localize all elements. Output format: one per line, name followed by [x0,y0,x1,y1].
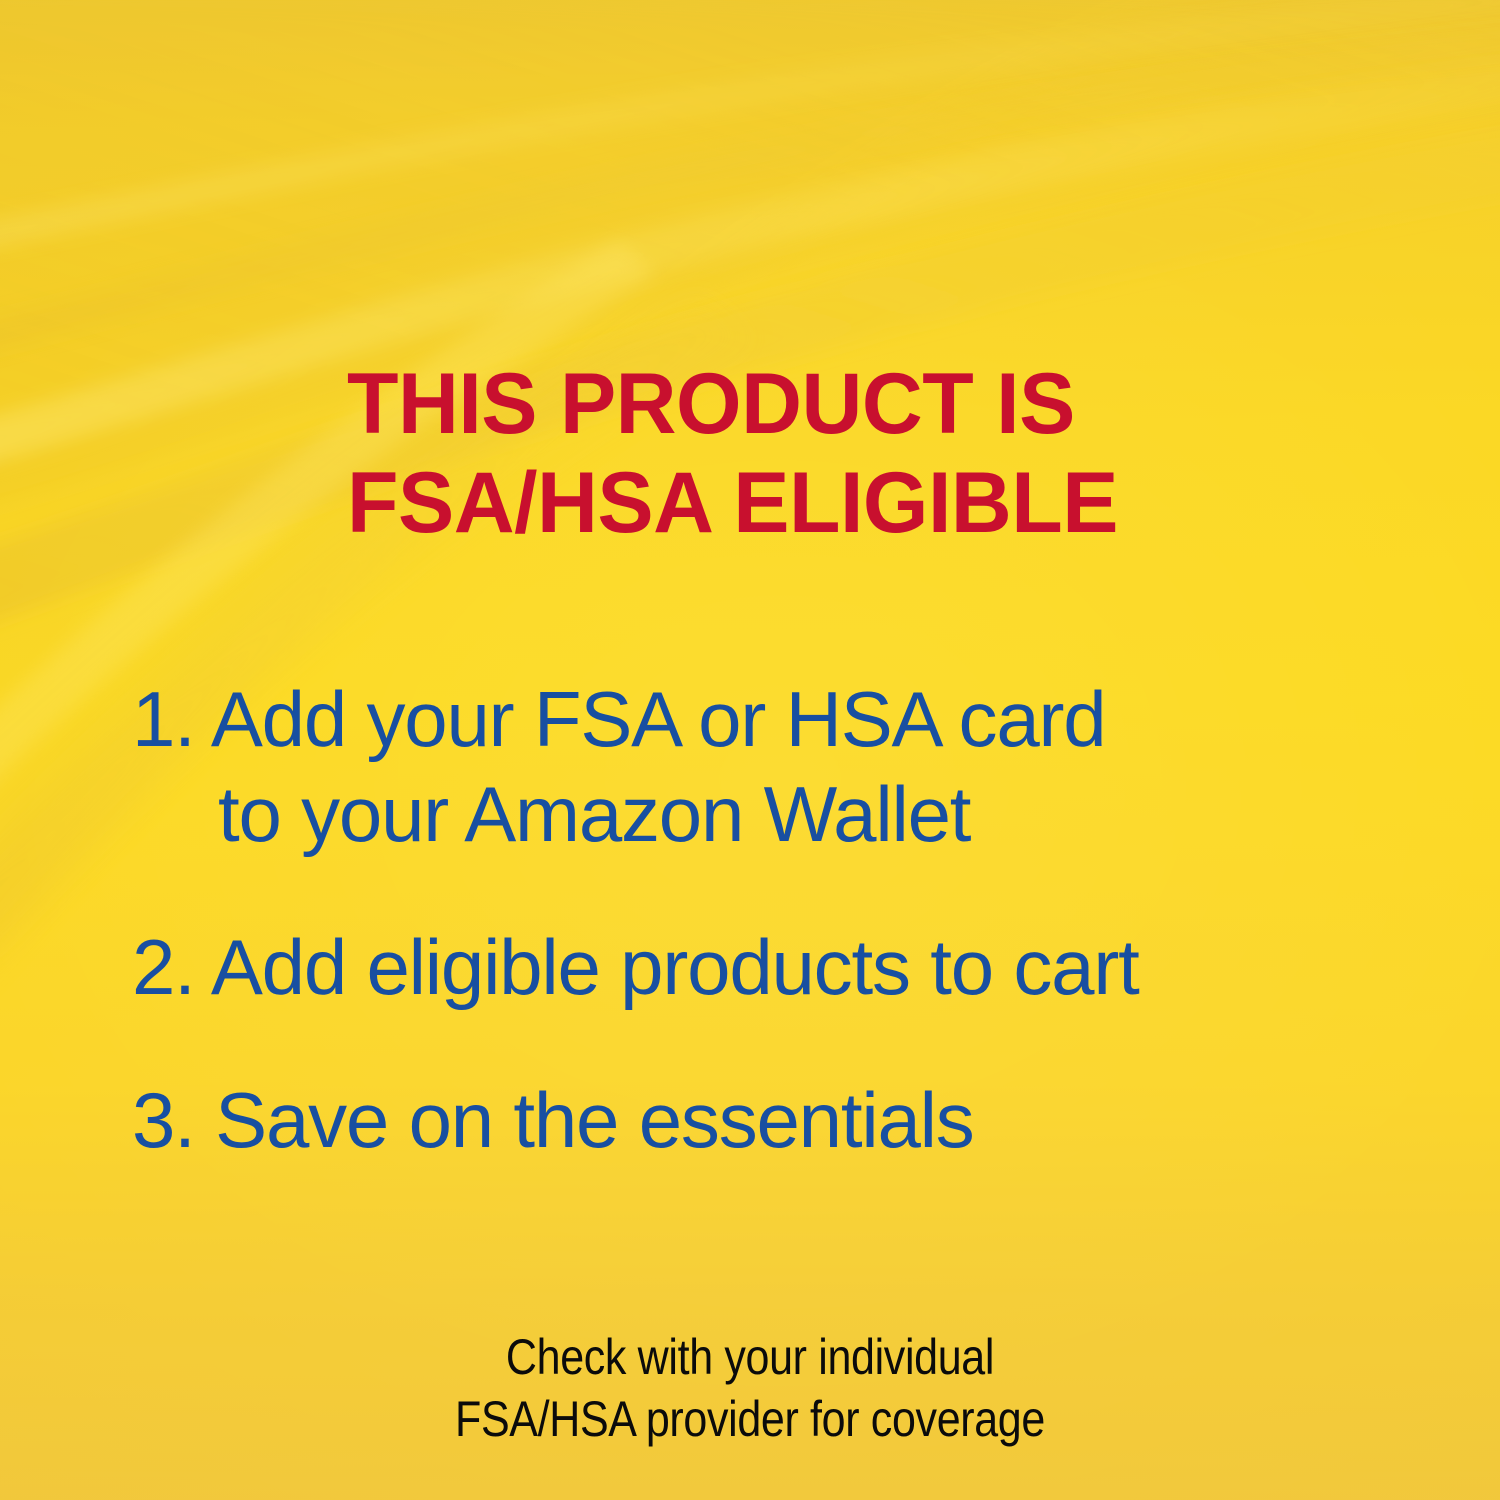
disclaimer-text: Check with your individual FSA/HSA provi… [105,1326,1395,1450]
page-title: THIS PRODUCT IS FSA/HSA ELIGIBLE [347,355,1118,553]
headline-line-2: FSA/HSA ELIGIBLE [347,454,1118,553]
content-layer: THIS PRODUCT IS FSA/HSA ELIGIBLE 1. Add … [0,0,1500,1500]
headline-line-1: THIS PRODUCT IS [347,355,1118,454]
promo-graphic: THIS PRODUCT IS FSA/HSA ELIGIBLE 1. Add … [0,0,1500,1500]
list-item-step-3: 3. Save on the essentials [132,1073,1422,1168]
disclaimer-line-2: FSA/HSA provider for coverage [105,1388,1395,1450]
step-2-line-1: 2. Add eligible products to cart [132,920,1422,1015]
step-1-line-1: 1. Add your FSA or HSA card [132,672,1422,767]
step-3-line-1: 3. Save on the essentials [132,1073,1422,1168]
steps-list: 1. Add your FSA or HSA card to your Amaz… [132,672,1422,1168]
disclaimer-line-1: Check with your individual [105,1326,1395,1388]
list-item-step-2: 2. Add eligible products to cart [132,920,1422,1015]
list-item-step-1: 1. Add your FSA or HSA card to your Amaz… [132,672,1422,862]
step-1-line-2: to your Amazon Wallet [132,767,1422,862]
